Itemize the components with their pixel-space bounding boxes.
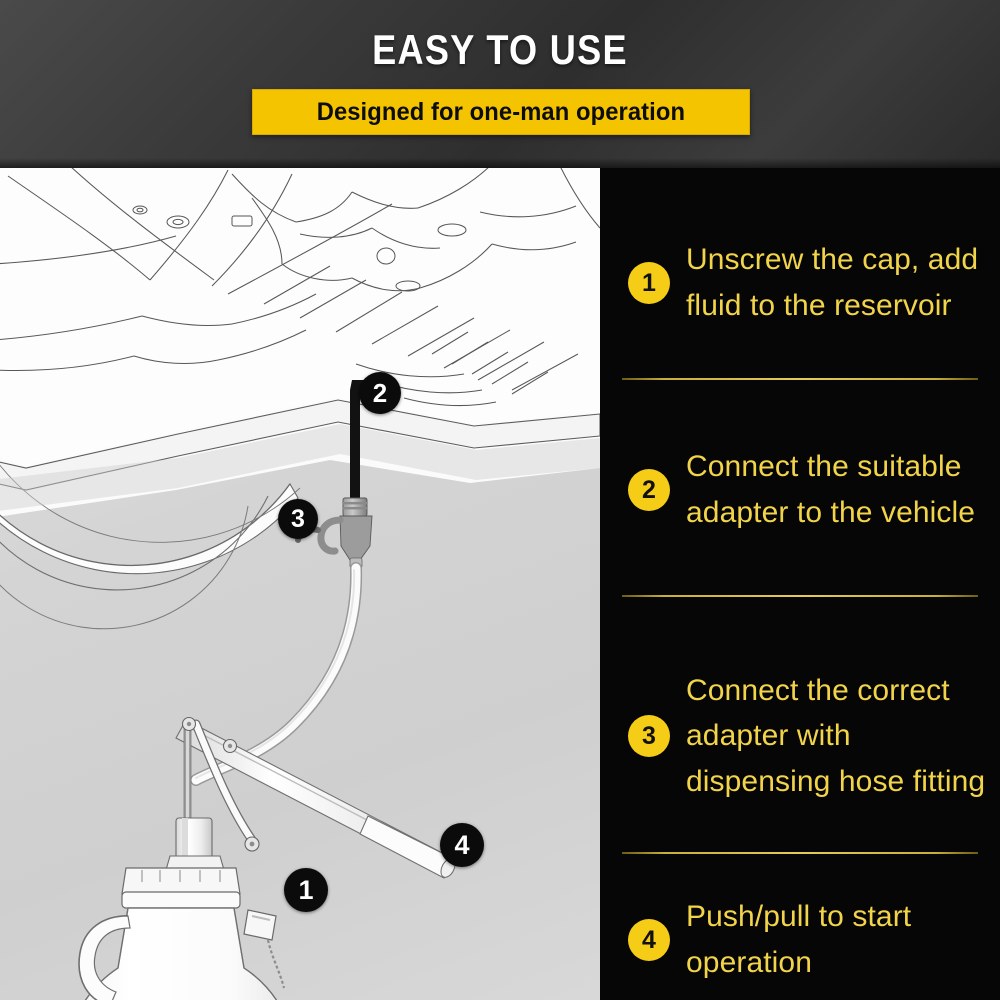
tagline-banner: Designed for one-man operation bbox=[252, 89, 750, 135]
infographic-page: EASY TO USE Designed for one-man operati… bbox=[0, 0, 1000, 1000]
step-divider-2 bbox=[622, 595, 978, 597]
step-item-1: 1 Unscrew the cap, add fluid to the rese… bbox=[600, 190, 1000, 376]
illustration-marker-4: 4 bbox=[440, 823, 484, 867]
page-title: EASY TO USE bbox=[70, 26, 930, 74]
step-item-3: 3 Connect the correct adapter with dispe… bbox=[600, 620, 1000, 852]
header-banner-area: EASY TO USE Designed for one-man operati… bbox=[0, 0, 1000, 168]
step-badge-3: 3 bbox=[628, 715, 670, 757]
step-badge-2: 2 bbox=[628, 469, 670, 511]
illustration-marker-2: 2 bbox=[359, 372, 401, 414]
step-item-2: 2 Connect the suitable adapter to the ve… bbox=[600, 404, 1000, 576]
instruction-steps-panel: 1 Unscrew the cap, add fluid to the rese… bbox=[600, 168, 1000, 1000]
fluid-reservoir bbox=[66, 868, 296, 1000]
step-text-3: Connect the correct adapter with dispens… bbox=[686, 668, 1000, 805]
product-illustration: 1 2 3 4 bbox=[0, 168, 600, 1000]
step-divider-3 bbox=[622, 852, 978, 854]
tagline-text: Designed for one-man operation bbox=[317, 98, 685, 127]
pump-lever-assembly bbox=[166, 718, 458, 880]
step-divider-1 bbox=[622, 378, 978, 380]
illustration-marker-3: 3 bbox=[278, 499, 318, 539]
step-text-2: Connect the suitable adapter to the vehi… bbox=[686, 444, 1000, 535]
illustration-marker-1: 1 bbox=[284, 868, 328, 912]
step-badge-4: 4 bbox=[628, 919, 670, 961]
step-item-4: 4 Push/pull to start operation bbox=[600, 880, 1000, 1000]
step-badge-1: 1 bbox=[628, 262, 670, 304]
step-text-1: Unscrew the cap, add fluid to the reserv… bbox=[686, 237, 1000, 328]
step-text-4: Push/pull to start operation bbox=[686, 894, 1000, 985]
